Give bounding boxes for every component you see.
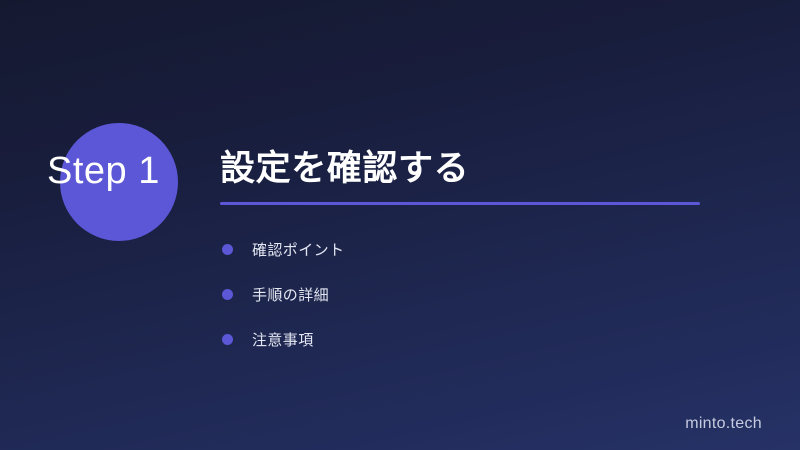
list-item-label: 手順の詳細 bbox=[252, 284, 329, 305]
presentation-slide: Step 1 設定を確認する 確認ポイント 手順の詳細 注意事項 minto.t… bbox=[0, 0, 800, 450]
list-item-label: 注意事項 bbox=[252, 329, 314, 350]
heading-block: 設定を確認する bbox=[220, 148, 702, 205]
list-item-label: 確認ポイント bbox=[252, 239, 344, 260]
bullet-dot-icon bbox=[222, 244, 233, 255]
title-divider bbox=[220, 202, 700, 205]
list-item: 注意事項 bbox=[222, 327, 344, 351]
step-number-label: Step 1 bbox=[47, 152, 160, 190]
bullet-list: 確認ポイント 手順の詳細 注意事項 bbox=[222, 237, 344, 351]
list-item: 手順の詳細 bbox=[222, 282, 344, 306]
footer-brand: minto.tech bbox=[685, 415, 762, 433]
list-item: 確認ポイント bbox=[222, 237, 344, 261]
slide-title: 設定を確認する bbox=[220, 148, 702, 189]
bullet-dot-icon bbox=[222, 334, 233, 345]
bullet-dot-icon bbox=[222, 289, 233, 300]
